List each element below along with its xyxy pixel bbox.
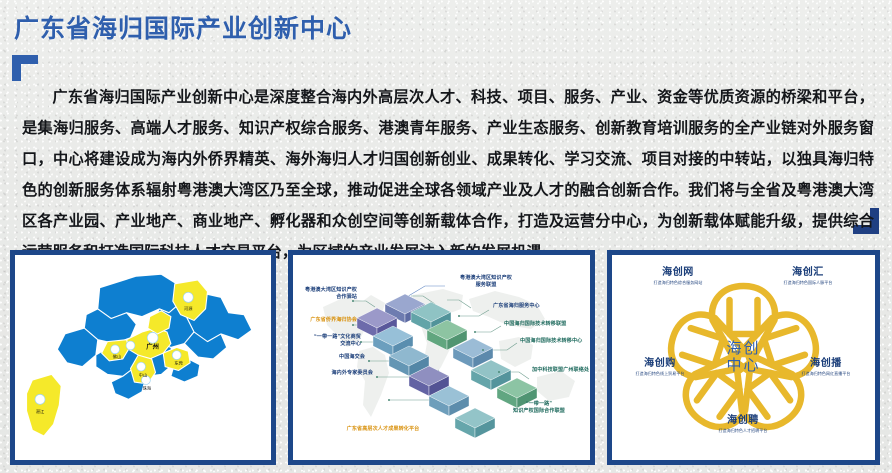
knot-node-haichuangbo: 海创播 打造海归特色网红直播平台 <box>780 358 872 377</box>
corner-bracket-top-left <box>12 55 38 81</box>
map-panel: 广州 佛山 东莞 中山 珠海 河源 湛江 <box>10 250 276 465</box>
diagram-label-overseas-association: 广东省侨界海归协会 <box>295 317 357 324</box>
diagram-label-expert-committee: 海内外专家委员会 <box>313 370 373 377</box>
diagram-label-ip-station: 粤港澳大湾区知识产权合作驿站 <box>295 287 357 301</box>
diagram-label-canada-china-alliance: 加中科技联盟广州联络处 <box>532 367 589 374</box>
diagram-label-belt-road-culture: “一带一路”文化商贸交流中心 <box>299 334 361 348</box>
intro-paragraph: 广东省海归国际产业创新中心是深度整合海内外高层次人才、科技、项目、服务、产业、资… <box>22 82 874 268</box>
knot-node-haichuangwang: 海创网 打造海归特色综合服务网站 <box>632 267 724 286</box>
diagram-label-haijiaohui: 中国海交会 <box>313 354 365 361</box>
map-panel-inner: 广州 佛山 东莞 中山 珠海 河源 湛江 <box>15 255 271 460</box>
map-city-label-dongguan: 东莞 <box>174 360 182 367</box>
map-city-label-heyuan: 河源 <box>184 305 193 312</box>
map-city-label-zhanjiang: 湛江 <box>36 408 45 415</box>
guangdong-map: 广州 佛山 东莞 中山 珠海 河源 湛江 <box>15 255 271 460</box>
logo-panel-inner: 海创 中心 海创网 打造海归特色综合服务网站 海创汇 打造海归特色国际人脉平台 … <box>612 255 875 460</box>
map-city-label-foshan: 佛山 <box>113 353 121 360</box>
page-title: 广东省海归国际产业创新中心 <box>14 9 352 45</box>
knot-center-line2: 中心 <box>726 358 760 374</box>
platform-layout-diagram: 粤港澳大湾区知识产权合作驿站 广东省侨界海归协会 “一带一路”文化商贸交流中心 … <box>293 255 590 460</box>
panel-strip: 广州 佛山 东莞 中山 珠海 河源 湛江 <box>10 250 882 465</box>
diagram-label-tech-transfer-center: 中国海归国际技术转移中心 <box>520 338 582 345</box>
map-city-label-zhuhai: 珠海 <box>143 385 152 392</box>
logo-panel: 海创 中心 海创网 打造海归特色综合服务网站 海创汇 打造海归特色国际人脉平台 … <box>607 250 880 465</box>
knot-node-haichuanggou: 海创购 打造海归特色线上贸易平台 <box>614 358 706 377</box>
knot-node-haichuanghui: 海创汇 打造海归特色国际人脉平台 <box>762 267 854 286</box>
diagram-panel: 粤港澳大湾区知识产权合作驿站 广东省侨界海归协会 “一带一路”文化商贸交流中心 … <box>288 250 595 465</box>
diagram-label-belt-road-ip-alliance: “一带一路”知识产权国际合作联盟 <box>488 401 590 415</box>
diagram-label-talent-transform-platform: 广东省高层次人才成果转化平台 <box>323 426 443 433</box>
map-city-label-guangzhou: 广州 <box>146 341 159 350</box>
knot-node-haichuangpin: 海创聘 打造海归特色人才招聘平台 <box>697 415 789 434</box>
page-title-wrap: 广东省海归国际产业创新中心 <box>14 9 352 45</box>
map-city-label-zhongshan: 中山 <box>139 371 147 378</box>
knot-center-line1: 海创 <box>726 341 760 357</box>
diagram-label-ip-service-alliance: 粤港澳大湾区知识产权服务联盟 <box>441 275 531 289</box>
diagram-label-tech-transfer-alliance: 中国海归国际技术转移联盟 <box>504 321 566 328</box>
knot-center-text: 海创 中心 <box>726 341 760 375</box>
diagram-label-returnee-service-center: 广东省海归服务中心 <box>493 303 540 310</box>
diagram-panel-inner: 粤港澳大湾区知识产权合作驿站 广东省侨界海归协会 “一带一路”文化商贸交流中心 … <box>293 255 590 460</box>
haichuang-logo: 海创 中心 海创网 打造海归特色综合服务网站 海创汇 打造海归特色国际人脉平台 … <box>612 255 875 460</box>
